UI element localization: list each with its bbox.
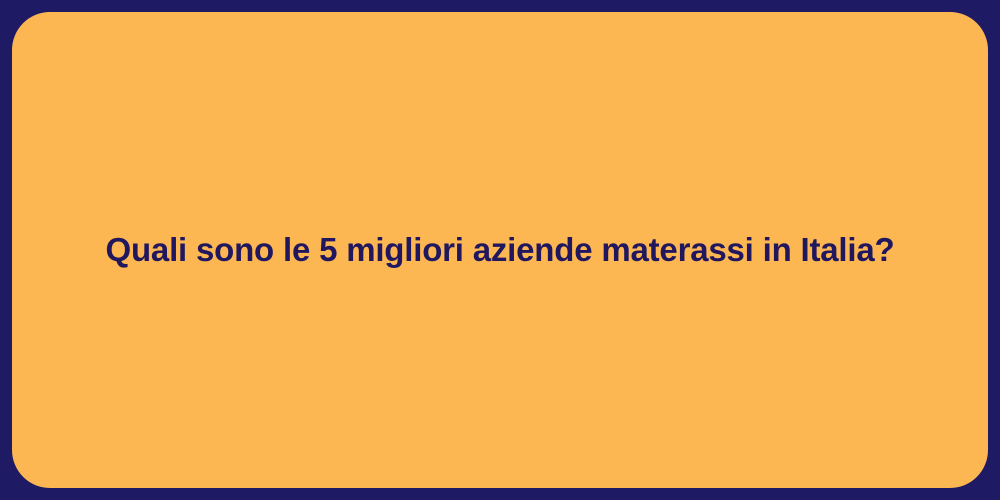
page-title: Quali sono le 5 migliori aziende materas… (66, 229, 935, 270)
outer-frame: Quali sono le 5 migliori aziende materas… (0, 0, 1000, 500)
content-card: Quali sono le 5 migliori aziende materas… (12, 12, 988, 488)
